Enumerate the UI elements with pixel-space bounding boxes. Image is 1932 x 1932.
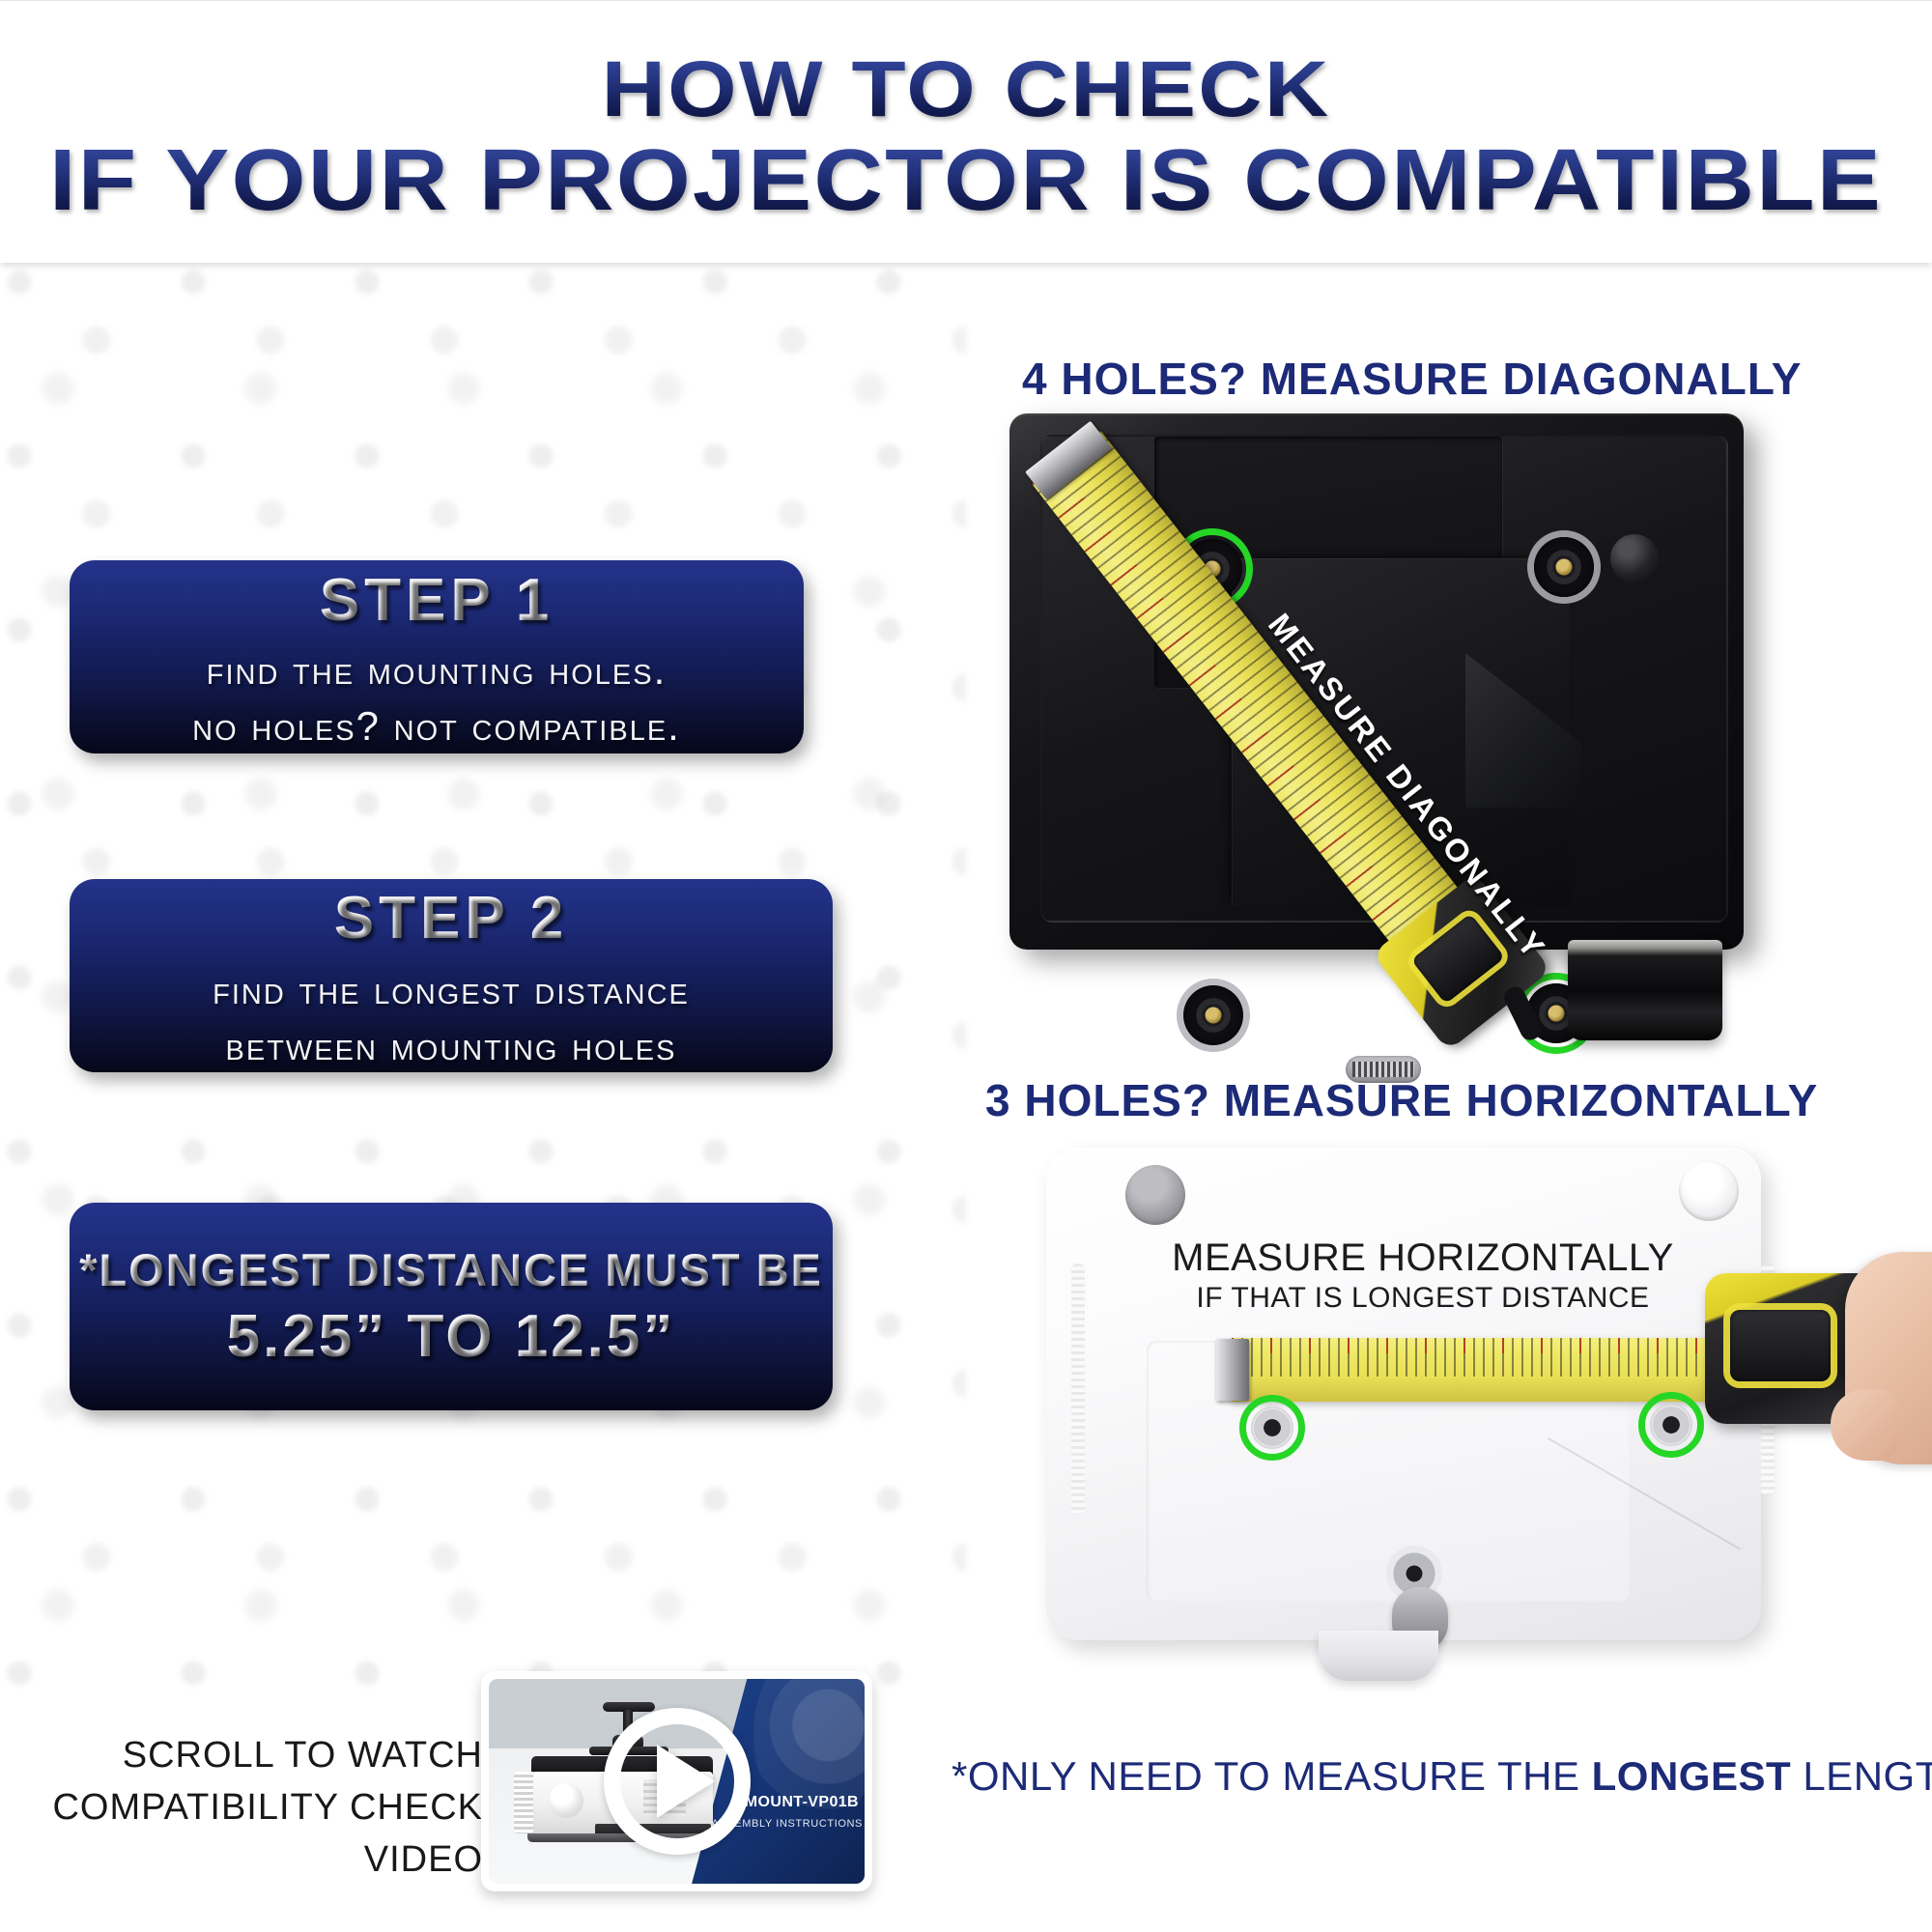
thumbnail-projector-vents: [514, 1772, 533, 1833]
section-heading-four-holes: 4 HOLES? MEASURE DIAGONALLY: [1022, 353, 1802, 405]
white-projector-chassis: MEASURE HORIZONTALLY IF THAT IS LONGEST …: [1046, 1148, 1761, 1640]
white-projector-foot-right: [1679, 1161, 1739, 1221]
video-thumbnail-image[interactable]: MOUNT-VP01B ASSEMBLY INSTRUCTIONS: [489, 1679, 865, 1884]
page-title-line-2: IF YOUR PROJECTOR IS COMPATIBLE: [0, 134, 1932, 227]
hole-insert: [1556, 559, 1573, 576]
thumbnail-projector-lens: [549, 1783, 583, 1818]
step-2-card: STEP 2 Find the longest distance between…: [70, 879, 833, 1072]
tape-end-hook: [1216, 1339, 1249, 1401]
step-2-line-1: Find the longest distance: [213, 962, 690, 1018]
measure-horizontally-line-2: IF THAT IS LONGEST DISTANCE: [1172, 1282, 1674, 1315]
header-banner: HOW TO CHECK IF YOUR PROJECTOR IS COMPAT…: [0, 0, 1932, 263]
step-1-line-2: no holes? not compatible.: [192, 698, 681, 754]
distance-requirement-card: *LONGEST DISTANCE MUST BE 5.25” TO 12.5”: [70, 1203, 833, 1410]
footnote-measure-longest: *ONLY NEED TO MEASURE THE LONGEST LENGTH: [952, 1753, 1932, 1800]
measure-horizontally-caption: MEASURE HORIZONTALLY IF THAT IS LONGEST …: [1172, 1236, 1674, 1315]
page-title-line-1: HOW TO CHECK: [0, 47, 1932, 132]
distance-requirement-line-1: *LONGEST DISTANCE MUST BE: [79, 1243, 823, 1296]
projector-speaker-grille: [1346, 1056, 1421, 1083]
step-2-heading: STEP 2: [334, 884, 569, 952]
step-1-line-1: Find the mounting holes.: [207, 642, 668, 698]
tape-tick-marks-red: [1232, 1338, 1753, 1353]
distance-requirement-line-2: 5.25” TO 12.5”: [227, 1302, 676, 1371]
measure-horizontally-line-1: MEASURE HORIZONTALLY: [1172, 1236, 1674, 1280]
white-projector-foot-left: [1125, 1165, 1185, 1225]
step-1-heading: STEP 1: [320, 566, 554, 635]
play-triangle-icon[interactable]: [657, 1745, 715, 1818]
thumbnail-product-code: MOUNT-VP01B: [745, 1794, 859, 1811]
footnote-emphasis: LONGEST: [1592, 1753, 1792, 1799]
step-2-line-2: between mounting holes: [226, 1018, 677, 1074]
step-1-card: STEP 1 Find the mounting holes. no holes…: [70, 560, 804, 753]
scroll-to-watch-cta: SCROLL TO WATCH COMPATIBILITY CHECK VIDE…: [0, 1729, 483, 1886]
white-projector-lens: [1319, 1631, 1438, 1681]
projector-foot-dome: [1610, 534, 1659, 582]
mounting-hole-top-right: [1534, 537, 1594, 597]
mounting-hole-bottom-left: [1183, 985, 1243, 1045]
scroll-cta-line-2: COMPATIBILITY CHECK VIDEO: [0, 1781, 483, 1886]
projector-lens-barrel: [1568, 940, 1722, 1040]
video-thumbnail-card[interactable]: MOUNT-VP01B ASSEMBLY INSTRUCTIONS: [481, 1671, 872, 1891]
scroll-cta-line-1: SCROLL TO WATCH: [0, 1729, 483, 1781]
highlight-ring-left: [1239, 1395, 1305, 1461]
hole-insert: [1206, 1008, 1222, 1024]
white-projector-vent-left: [1071, 1264, 1085, 1515]
footnote-prefix: *ONLY NEED TO MEASURE THE: [952, 1753, 1592, 1799]
white-projector-photo: MEASURE HORIZONTALLY IF THAT IS LONGEST …: [1029, 1148, 1831, 1698]
black-projector-photo: MEASURE DIAGONALLY: [1000, 413, 1773, 1032]
highlight-ring-right: [1638, 1392, 1704, 1458]
hand-thumb: [1831, 1389, 1898, 1461]
footnote-suffix: LENGTH: [1791, 1753, 1932, 1799]
